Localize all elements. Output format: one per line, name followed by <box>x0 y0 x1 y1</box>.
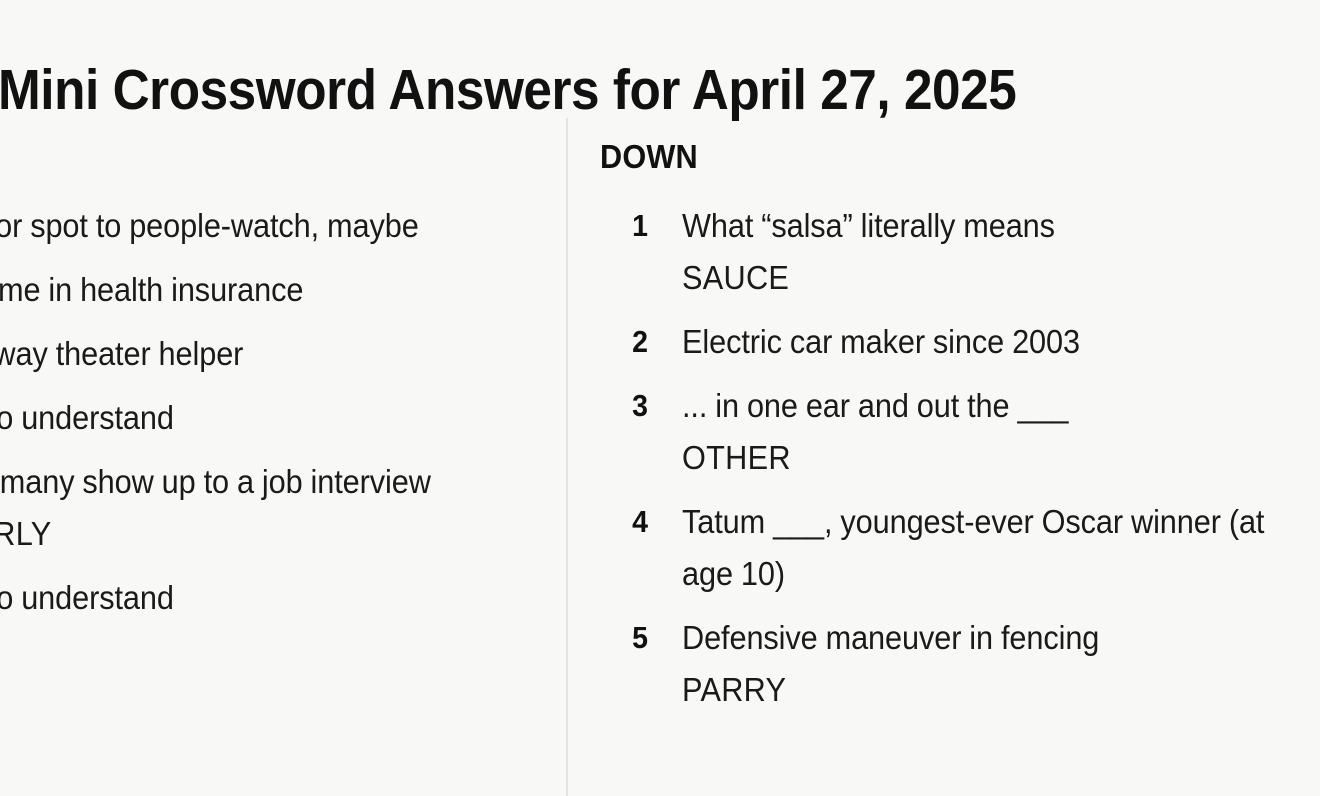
crossword-answers-page: Mini Crossword Answers for April 27, 202… <box>0 0 1320 796</box>
clue-body: Electric car maker since 2003 <box>682 316 1275 368</box>
clue-number: 3 <box>604 380 648 432</box>
clue-body: Big name in health insurance <box>0 264 520 316</box>
across-clue-list: 1Outdoor spot to people-watch, maybe5Big… <box>0 200 566 636</box>
clue-body: Tatum ___, youngest-ever Oscar winner (a… <box>682 496 1275 600</box>
clue-item[interactable]: 5Big name in health insurance <box>0 264 566 316</box>
clue-item[interactable]: 2Electric car maker since 2003 <box>600 316 1320 368</box>
clue-item[interactable]: 3... in one ear and out the ___OTHER <box>600 380 1320 484</box>
clue-item[interactable]: 4Tatum ___, youngest-ever Oscar winner (… <box>600 496 1320 600</box>
clue-body: What “salsa” literally meansSAUCE <box>682 200 1275 304</box>
clue-item[interactable]: 1Outdoor spot to people-watch, maybe <box>0 200 566 252</box>
clue-answer: PARRY <box>682 664 1275 716</box>
clue-body: Easy to understand <box>0 572 520 624</box>
page-title: Mini Crossword Answers for April 27, 202… <box>0 56 1168 124</box>
clue-body: Outdoor spot to people-watch, maybe <box>0 200 520 252</box>
clue-number: 5 <box>604 612 648 664</box>
clue-item[interactable]: 1What “salsa” literally meansSAUCE <box>600 200 1320 304</box>
clue-text: Big name in health insurance <box>0 271 303 308</box>
across-column: ACROSS 1Outdoor spot to people-watch, ma… <box>0 118 566 796</box>
clue-text: Easy to understand <box>0 579 174 616</box>
clue-item[interactable]: 9Easy to understand <box>0 572 566 624</box>
clue-text: Broadway theater helper <box>0 335 243 372</box>
down-heading: DOWN <box>600 138 698 176</box>
clue-text: Easy to understand <box>0 399 174 436</box>
clue-text: ... in one ear and out the ___ <box>682 387 1068 424</box>
clue-body: When many show up to a job interviewCLEA… <box>0 456 520 560</box>
down-column: DOWN 1What “salsa” literally meansSAUCE2… <box>600 118 1320 796</box>
clue-text: Defensive maneuver in fencing <box>682 619 1099 656</box>
clue-body: ... in one ear and out the ___OTHER <box>682 380 1275 484</box>
clue-item[interactable]: 7Easy to understand <box>0 392 566 444</box>
clue-body: Defensive maneuver in fencingPARRY <box>682 612 1275 716</box>
clue-body: Broadway theater helper <box>0 328 520 380</box>
clue-answer: SAUCE <box>682 252 1275 304</box>
clue-item[interactable]: 6Broadway theater helper <box>0 328 566 380</box>
clue-answer: OTHER <box>682 432 1275 484</box>
clue-columns: ACROSS 1Outdoor spot to people-watch, ma… <box>0 118 1320 796</box>
clue-text: Outdoor spot to people-watch, maybe <box>0 207 419 244</box>
clue-body: Easy to understand <box>0 392 520 444</box>
down-clue-list: 1What “salsa” literally meansSAUCE2Elect… <box>600 200 1320 728</box>
clue-number: 2 <box>604 316 648 368</box>
clue-answer: CLEARLY <box>0 508 520 560</box>
clue-text: Tatum ___, youngest-ever Oscar winner (a… <box>682 503 1264 592</box>
column-divider <box>566 118 568 796</box>
clue-number: 1 <box>604 200 648 252</box>
clue-text: When many show up to a job interview <box>0 463 431 500</box>
clue-text: What “salsa” literally means <box>682 207 1055 244</box>
clue-number: 4 <box>604 496 648 548</box>
clue-item[interactable]: 5Defensive maneuver in fencingPARRY <box>600 612 1320 716</box>
clue-item[interactable]: 8When many show up to a job interviewCLE… <box>0 456 566 560</box>
clue-text: Electric car maker since 2003 <box>682 323 1080 360</box>
